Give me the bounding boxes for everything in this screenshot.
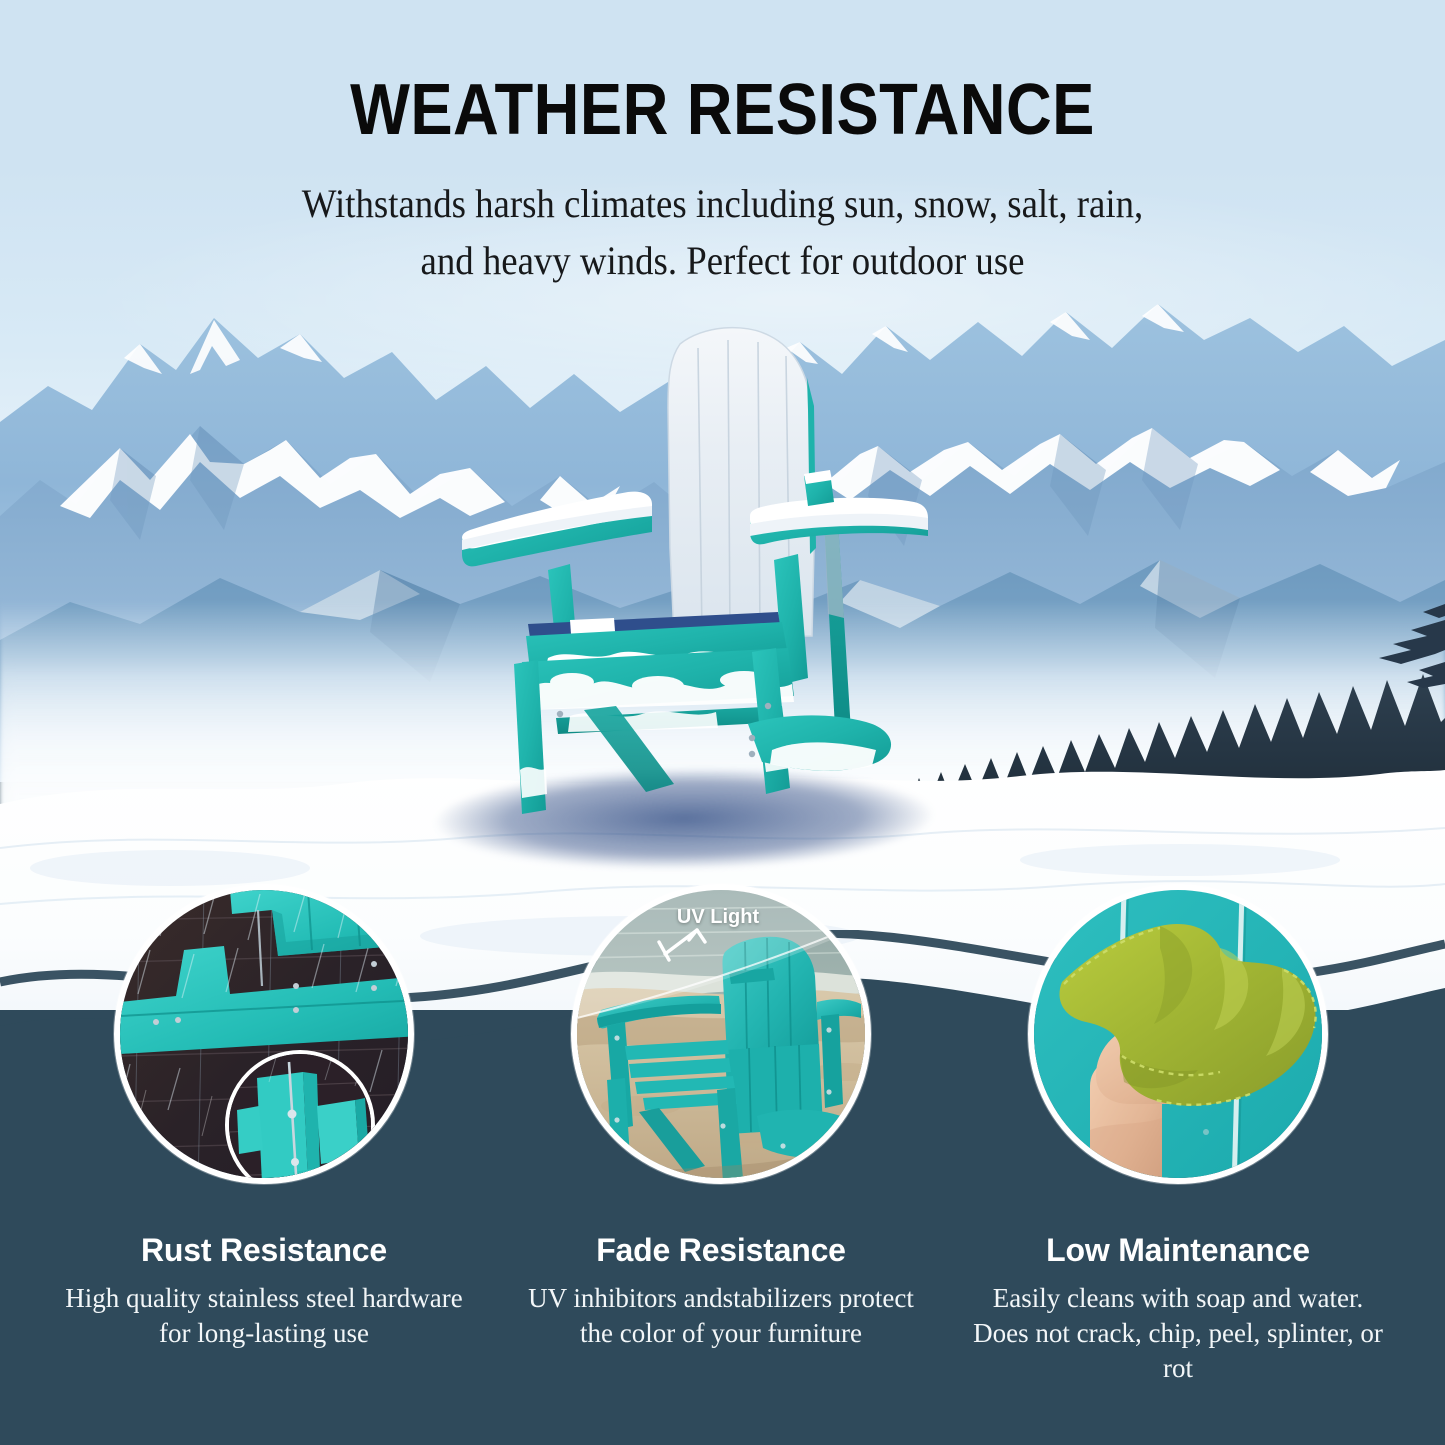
subtitle-line-1: Withstands harsh climates including sun,…: [58, 176, 1387, 233]
feature-title-fade-resistance: Fade Resistance: [511, 1232, 931, 1269]
feature-title-rust-resistance: Rust Resistance: [54, 1232, 474, 1269]
subtitle-line-2: and heavy winds. Perfect for outdoor use: [58, 233, 1387, 290]
mountain-scene: [0, 0, 1445, 1010]
feature-image-fade-resistance[interactable]: UV Light: [571, 884, 871, 1184]
feature-description-low-maintenance: Easily cleans with soap and water. Does …: [968, 1281, 1388, 1386]
feature-description-rust-resistance: High quality stainless steel hardware fo…: [54, 1281, 474, 1351]
feature-description-fade-resistance: UV inhibitors andstabilizers protect the…: [511, 1281, 931, 1351]
feature-text-fade-resistance: Fade Resistance UV inhibitors andstabili…: [511, 1232, 931, 1351]
feature-text-rust-resistance: Rust Resistance High quality stainless s…: [54, 1232, 474, 1351]
feature-text-low-maintenance: Low Maintenance Easily cleans with soap …: [968, 1232, 1388, 1386]
feature-title-low-maintenance: Low Maintenance: [968, 1232, 1388, 1269]
page-title: WEATHER RESISTANCE: [87, 74, 1359, 147]
infographic-root: WEATHER RESISTANCE Withstands harsh clim…: [0, 0, 1445, 1445]
feature-image-low-maintenance[interactable]: [1028, 884, 1328, 1184]
feature-image-rust-resistance[interactable]: [114, 884, 414, 1184]
fade-resistance-photo: [577, 890, 865, 1178]
low-maintenance-photo: [1034, 890, 1322, 1178]
uv-light-label: UV Light: [623, 906, 813, 929]
page-subtitle: Withstands harsh climates including sun,…: [58, 176, 1387, 290]
chair-arm-left: [462, 492, 652, 567]
pine-branch: [1315, 592, 1445, 732]
hero-chair: [452, 318, 952, 838]
